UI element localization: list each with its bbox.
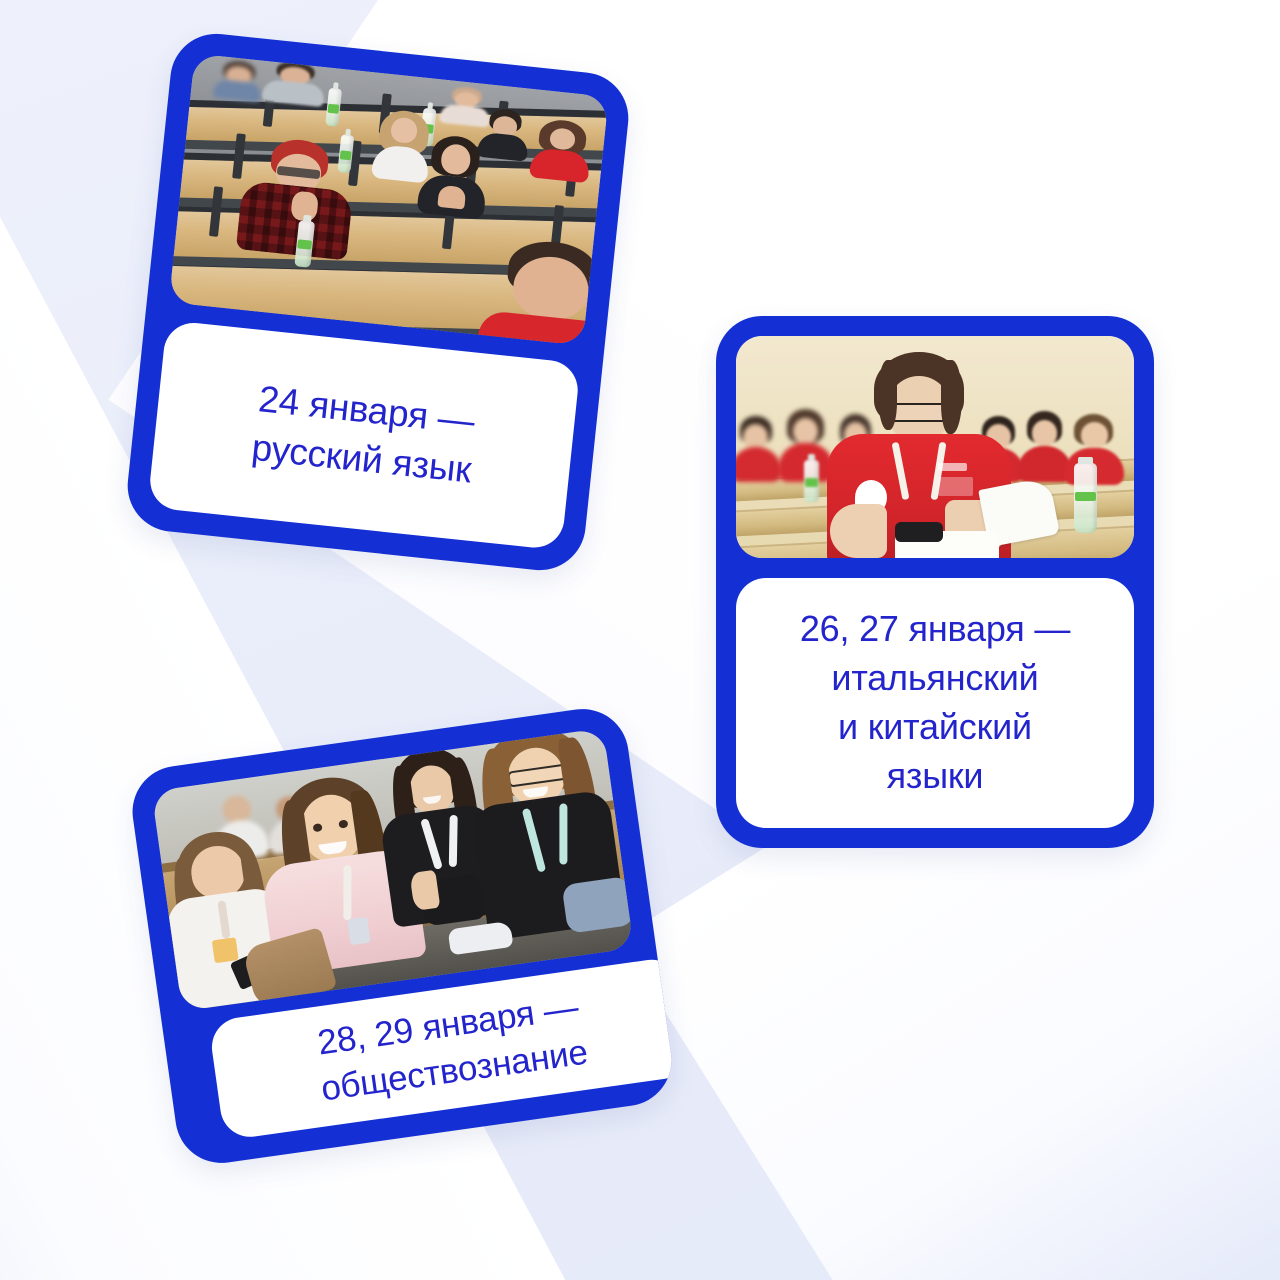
card-photo-languages: [736, 336, 1134, 558]
caption-line: 26, 27 января —: [800, 608, 1070, 649]
caption-line: итальянский: [831, 657, 1038, 698]
card-caption-languages: 26, 27 января — итальянский и китайский …: [736, 578, 1134, 828]
card-caption-russian: 24 января — русский язык: [147, 320, 580, 550]
card-photo-russian: [169, 54, 609, 346]
card-photo-social-studies: [151, 728, 633, 1011]
schedule-card-russian[interactable]: 24 января — русский язык: [123, 29, 633, 574]
caption-line: и китайский: [838, 706, 1032, 747]
caption-line: языки: [887, 755, 984, 796]
poster-canvas: 24 января — русский язык: [0, 0, 1280, 1280]
schedule-card-social-studies[interactable]: 28, 29 января — обществознание: [127, 703, 678, 1169]
schedule-card-languages[interactable]: 26, 27 января — итальянский и китайский …: [716, 316, 1154, 848]
exam-room-illustration: [736, 336, 1134, 558]
students-group-illustration: [151, 728, 633, 1011]
lecture-hall-illustration: [169, 54, 609, 346]
